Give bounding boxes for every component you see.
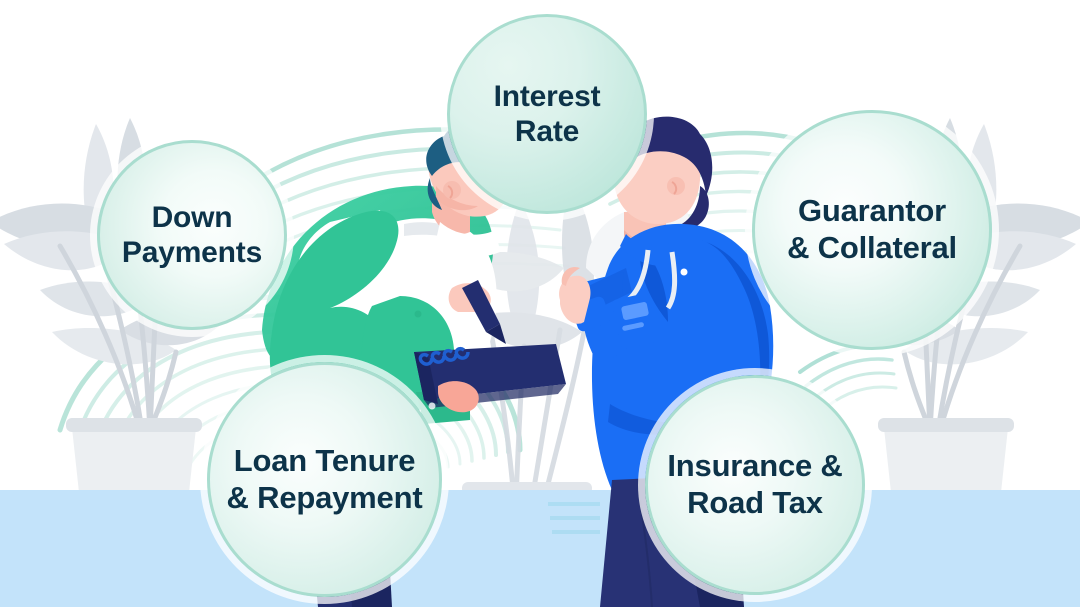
infographic-canvas: Down Payments Interest Rate Guarantor & … — [0, 0, 1080, 607]
bubble-insurance-road-tax[interactable]: Insurance & Road Tax — [645, 375, 865, 595]
bubble-label-line2: & Collateral — [779, 230, 965, 267]
floor-band — [0, 490, 1080, 607]
bubble-label-line1: Insurance & — [659, 448, 850, 485]
clipboard — [414, 344, 566, 408]
bubble-label-line2: Payments — [114, 235, 270, 270]
bubble-label-line2: Road Tax — [659, 485, 850, 522]
bubble-label-line2: & Repayment — [219, 480, 431, 517]
bubble-down-payments[interactable]: Down Payments — [97, 140, 287, 330]
bubble-label-line1: Loan Tenure — [219, 443, 431, 480]
bubble-label-line1: Down — [114, 200, 270, 235]
bubble-label-line1: Interest — [486, 79, 609, 114]
bubble-guarantor-collateral[interactable]: Guarantor & Collateral — [752, 110, 992, 350]
bubble-loan-tenure[interactable]: Loan Tenure & Repayment — [207, 362, 442, 597]
bubble-label-line2: Rate — [486, 114, 609, 149]
bubble-label-line1: Guarantor — [779, 193, 965, 230]
bubble-interest-rate[interactable]: Interest Rate — [447, 14, 647, 214]
